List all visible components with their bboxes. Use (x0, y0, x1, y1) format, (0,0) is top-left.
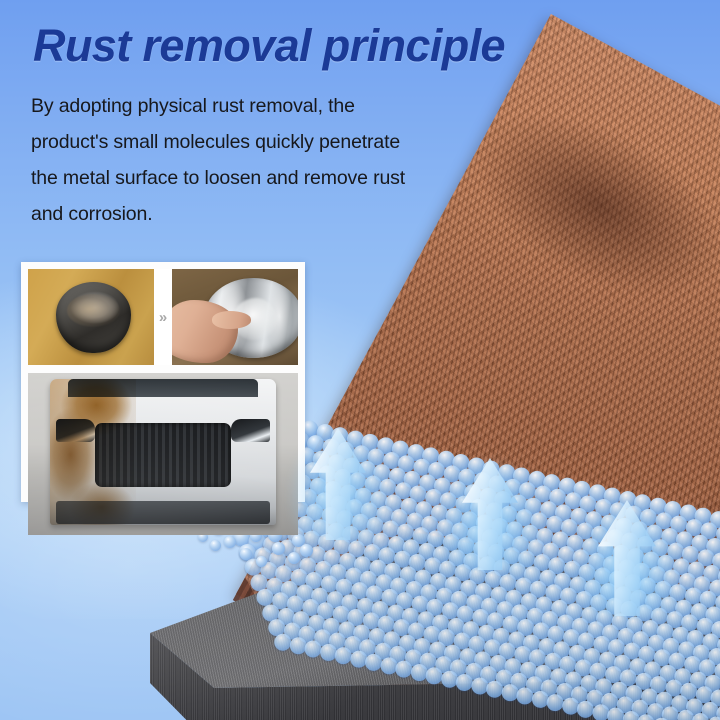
body-line-4: and corrosion. (31, 196, 501, 232)
collage-top-row: » (28, 269, 298, 365)
body-line-1: By adopting physical rust removal, the (31, 88, 501, 124)
stray-molecule (272, 542, 285, 555)
photo-car-front (28, 373, 298, 535)
stray-molecule (288, 552, 300, 564)
stray-molecule (224, 536, 236, 548)
metal-slab-illustration (150, 533, 720, 720)
stray-molecule (300, 544, 313, 557)
body-line-3: the metal surface to loosen and remove r… (31, 160, 501, 196)
body-paragraph: By adopting physical rust removal, the p… (31, 88, 501, 232)
rust-removal-poster: Rust removal principle By adopting physi… (0, 0, 720, 720)
stray-molecule (210, 540, 221, 551)
body-line-2: product's small molecules quickly penetr… (31, 124, 501, 160)
hand (167, 300, 238, 363)
stray-molecule (256, 556, 267, 567)
car-headlight-right (231, 419, 270, 442)
page-title: Rust removal principle (33, 20, 505, 72)
car-body (50, 379, 277, 525)
chevron-right-icon: » (154, 269, 172, 365)
stray-molecule (240, 548, 252, 560)
photo-collage: » (21, 262, 305, 502)
photo-pot-before (28, 269, 159, 365)
car-rust-patch (50, 379, 136, 525)
photo-pot-after (167, 269, 298, 365)
